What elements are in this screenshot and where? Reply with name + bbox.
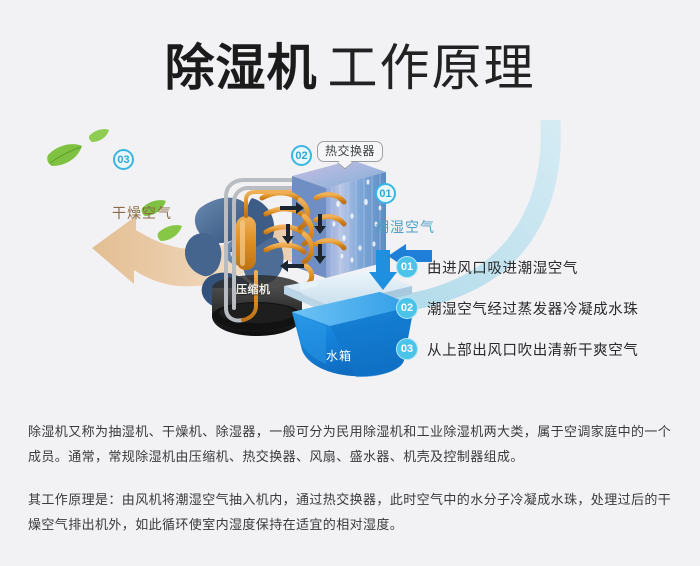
legend-item-01: 01 由进风口吸进潮湿空气	[396, 256, 686, 278]
leaf-icon-3	[142, 200, 166, 216]
compressor-unit	[236, 216, 256, 270]
leaf-icon-1	[47, 144, 82, 166]
legend-item-03: 03 从上部出风口吹出清新干爽空气	[396, 338, 686, 360]
page-title-light: 工作原理	[328, 39, 536, 97]
legend-badge-03: 03	[396, 338, 418, 360]
body-copy: 除湿机又称为抽湿机、干燥机、除湿器，一般可分为民用除湿机和工业除湿机两大类，属于…	[28, 420, 676, 556]
paragraph-principle: 其工作原理是：由风机将潮湿空气抽入机内，通过热交换器，此时空气中的水分子冷凝成水…	[28, 488, 676, 538]
legend-text-03: 从上部出风口吹出清新干爽空气	[427, 339, 638, 360]
leaf-icon-2	[89, 129, 109, 142]
page-title-bold: 除湿机	[165, 39, 318, 97]
legend-text-02: 潮湿空气经过蒸发器冷凝成水珠	[427, 298, 638, 319]
legend-badge-02: 02	[396, 297, 418, 319]
page-title: 除湿机工作原理	[0, 28, 700, 100]
legend-badge-01: 01	[396, 256, 418, 278]
legend-item-02: 02 潮湿空气经过蒸发器冷凝成水珠	[396, 297, 686, 319]
legend-list: 01 由进风口吸进潮湿空气 02 潮湿空气经过蒸发器冷凝成水珠 03 从上部出风…	[396, 256, 686, 379]
legend-text-01: 由进风口吸进潮湿空气	[427, 257, 578, 278]
paragraph-definition: 除湿机又称为抽湿机、干燥机、除湿器，一般可分为民用除湿机和工业除湿机两大类，属于…	[28, 420, 676, 470]
leaf-icon-4	[158, 225, 182, 241]
